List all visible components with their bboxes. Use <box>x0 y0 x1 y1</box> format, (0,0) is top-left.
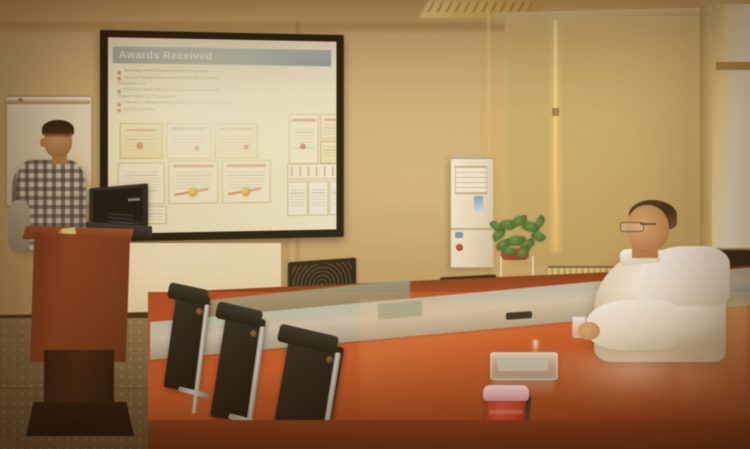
certificate-thumb <box>167 123 211 159</box>
thermos-band <box>489 410 523 414</box>
laptop-keyboard[interactable] <box>108 213 134 229</box>
list-item: Calibration Certificate awarded by Shaan… <box>118 100 262 106</box>
window-mullion <box>716 62 750 70</box>
attendee-arm <box>586 300 676 350</box>
certificate-collage <box>116 123 331 229</box>
presenter-ear <box>40 138 46 147</box>
certificate-thumb <box>214 123 257 158</box>
ac-power-knob[interactable] <box>456 244 463 251</box>
certificate-thumb <box>320 114 336 139</box>
certificate-thumb <box>287 181 307 216</box>
certificate-thumb <box>289 114 318 164</box>
bullet-marker-icon <box>118 103 121 106</box>
certificate-thumb <box>222 160 271 203</box>
bullet-marker-icon <box>118 109 121 112</box>
certificate-thumb <box>329 181 336 216</box>
bullet-text: Calibration Certificate awarded by Shaan… <box>124 100 233 106</box>
ceiling-light-grille <box>427 2 532 12</box>
ac-seam <box>450 228 492 230</box>
conference-room-photo: Awards Received Technology-oriented Ente… <box>0 0 750 449</box>
ac-logo-icon <box>455 232 463 238</box>
thermos-lid[interactable] <box>483 385 529 401</box>
whiteboard-clip <box>18 98 23 102</box>
certificate-thumb <box>320 141 336 164</box>
slide-title-bar: Awards Received <box>113 46 331 66</box>
potted-plant <box>490 214 546 258</box>
certificate-thumb <box>120 123 163 159</box>
certificate-thumb <box>308 181 328 216</box>
slide-title: Awards Received <box>113 49 213 62</box>
blind-joint <box>552 108 559 116</box>
bullet-marker-icon <box>118 77 121 80</box>
bullet-continuation: Research Institute Co., Ltd and qualifie… <box>118 94 262 100</box>
bullet-text: High-tech Corporation Award issued by Xi… <box>124 75 219 81</box>
ac-display-panel[interactable] <box>474 196 483 212</box>
podium-base <box>26 402 134 436</box>
bullet-text: Technology-oriented Enterprise by Shaanx… <box>124 68 208 74</box>
bullet-text: Whole set products Tested by UHVDC at hi… <box>124 87 219 93</box>
certificate-thumb <box>287 164 336 180</box>
certificate-thumb <box>169 160 219 204</box>
bullet-text: ISO 9001 accredited <box>124 107 155 112</box>
podium <box>26 232 130 362</box>
blind-light-gap <box>554 20 557 250</box>
bullet-marker-icon <box>118 90 121 93</box>
bullet-marker-icon <box>118 71 121 74</box>
presenter-arm <box>8 200 30 252</box>
ashtray-well <box>498 357 548 371</box>
table-near-edge <box>148 420 750 449</box>
list-item: ISO 9001 accredited <box>118 107 262 113</box>
window <box>712 4 750 262</box>
slide-bullet-list: Technology-oriented Enterprise by Shaanx… <box>118 68 262 114</box>
attendee-hand <box>578 322 600 340</box>
ac-vent-grille-icon <box>455 166 487 194</box>
presenter-hair <box>42 120 74 138</box>
eyeglasses-temple <box>640 223 656 225</box>
